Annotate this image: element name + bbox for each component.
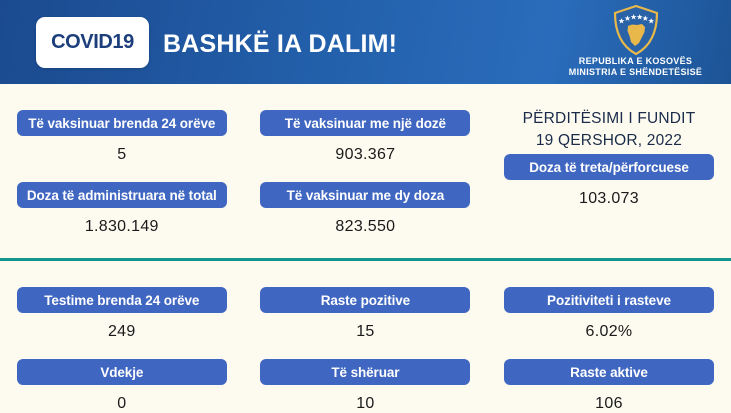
covid-dashboard-page: COVID19 BASHKË IA DALIM! REPUBLIKA E KOS… xyxy=(0,0,731,410)
stat-value-two-doses: 823.550 xyxy=(335,218,395,236)
stat-label-active-cases[interactable]: Raste aktive xyxy=(504,359,714,385)
header-slogan: BASHKË IA DALIM! xyxy=(163,30,397,59)
stat-value-active-cases: 106 xyxy=(595,395,623,413)
stat-label-tests-24h[interactable]: Testime brenda 24 orëve xyxy=(17,287,227,313)
testing-column-1: Testime brenda 24 orëve 249 Vdekje 0 xyxy=(0,287,244,413)
testing-column-3: Pozitiviteti i rasteve 6.02% Raste aktiv… xyxy=(487,287,731,413)
ministry-emblem: REPUBLIKA E KOSOVËS MINISTRIA E SHËNDETË… xyxy=(548,4,723,82)
vaccination-column-2: Të vaksinuar me një dozë 903.367 Të vaks… xyxy=(244,110,488,236)
stat-label-total-doses[interactable]: Doza të administruara në total xyxy=(17,182,227,208)
stat-label-positive-cases[interactable]: Raste pozitive xyxy=(260,287,470,313)
covid19-logo-text: COVID19 xyxy=(51,31,134,54)
last-update-date: 19 QERSHOR, 2022 xyxy=(536,132,682,150)
vaccination-column-3: PËRDITËSIMI I FUNDIT 19 QERSHOR, 2022 Do… xyxy=(487,110,731,236)
stat-value-one-dose: 903.367 xyxy=(335,146,395,164)
stat-label-positivity-rate[interactable]: Pozitiviteti i rasteve xyxy=(504,287,714,313)
stat-value-tests-24h: 249 xyxy=(108,323,136,341)
stat-label-vaccinated-24h[interactable]: Të vaksinuar brenda 24 orëve xyxy=(17,110,227,136)
section-spacer xyxy=(0,236,731,258)
stat-value-recovered: 10 xyxy=(356,395,374,413)
ministry-name-line-1: REPUBLIKA E KOSOVËS xyxy=(548,56,723,67)
stat-label-recovered[interactable]: Të shëruar xyxy=(260,359,470,385)
dashboard-content: Të vaksinuar brenda 24 orëve 5 Doza të a… xyxy=(0,84,731,402)
last-update-title: PËRDITËSIMI I FUNDIT xyxy=(523,110,696,128)
testing-top-spacer xyxy=(0,261,731,287)
testing-column-2: Raste pozitive 15 Të shëruar 10 xyxy=(244,287,488,413)
stat-value-deaths: 0 xyxy=(117,395,126,413)
page-header: COVID19 BASHKË IA DALIM! REPUBLIKA E KOS… xyxy=(0,0,731,84)
covid19-logo: COVID19 xyxy=(36,17,149,68)
stat-value-positivity-rate: 6.02% xyxy=(586,323,633,341)
stat-value-positive-cases: 15 xyxy=(356,323,374,341)
kosovo-coat-of-arms-shield-icon xyxy=(611,4,661,56)
stat-label-one-dose[interactable]: Të vaksinuar me një dozë xyxy=(260,110,470,136)
vaccination-section: Të vaksinuar brenda 24 orëve 5 Doza të a… xyxy=(0,110,731,236)
vaccination-top-spacer xyxy=(0,84,731,110)
stat-label-two-doses[interactable]: Të vaksinuar me dy doza xyxy=(260,182,470,208)
ministry-name-line-2: MINISTRIA E SHËNDETËSISË xyxy=(548,67,723,78)
vaccination-column-1: Të vaksinuar brenda 24 orëve 5 Doza të a… xyxy=(0,110,244,236)
stat-label-deaths[interactable]: Vdekje xyxy=(17,359,227,385)
testing-section: Testime brenda 24 orëve 249 Vdekje 0 Ras… xyxy=(0,287,731,413)
stat-value-booster-doses: 103.073 xyxy=(579,190,639,208)
stat-value-vaccinated-24h: 5 xyxy=(117,146,126,164)
stat-label-booster-doses[interactable]: Doza të treta/përforcuese xyxy=(504,154,714,180)
stat-value-total-doses: 1.830.149 xyxy=(85,218,159,236)
last-update-block: PËRDITËSIMI I FUNDIT 19 QERSHOR, 2022 xyxy=(523,110,696,136)
